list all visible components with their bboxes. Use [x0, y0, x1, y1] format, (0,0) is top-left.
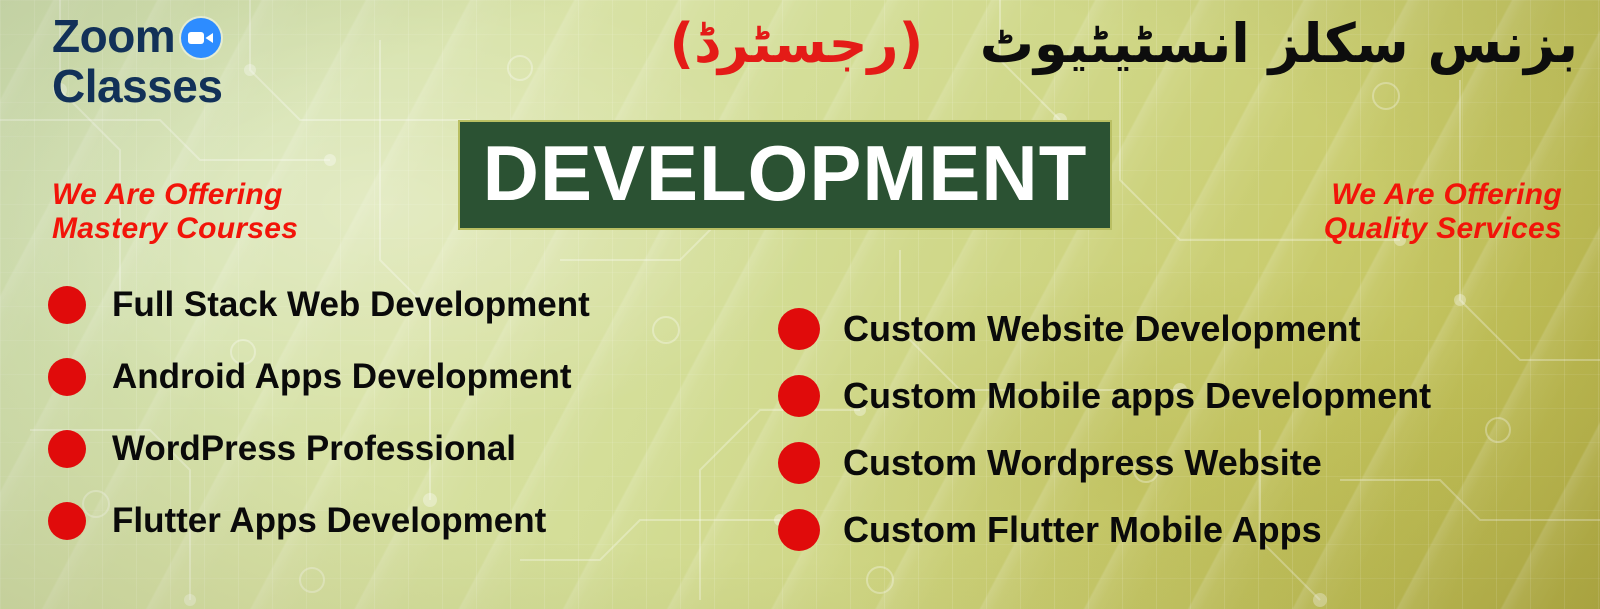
list-item: Android Apps Development [48, 358, 590, 396]
list-item: WordPress Professional [48, 430, 590, 468]
logo-text-classes: Classes [52, 63, 222, 109]
bullet-icon [778, 375, 820, 417]
left-heading-line-1: We Are Offering [52, 178, 298, 212]
logo: Zoom Classes [52, 12, 372, 110]
bullet-icon [778, 308, 820, 350]
bullet-icon [778, 509, 820, 551]
left-column-heading: We Are Offering Mastery Courses [52, 178, 298, 246]
list-item-label: Custom Mobile apps Development [843, 376, 1431, 416]
urdu-institute-heading: بزنس سکلز انسٹیٹیوٹ (رجسٹرڈ) [669, 8, 1578, 81]
logo-text-zoom: Zoom [52, 13, 175, 59]
bullet-icon [48, 430, 86, 468]
list-item: Custom Flutter Mobile Apps [778, 509, 1431, 551]
promo-banner: Zoom Classes بزنس سکلز انسٹیٹیوٹ (رجسٹرڈ… [0, 0, 1600, 609]
bullet-icon [48, 358, 86, 396]
right-heading-line-1: We Are Offering [1324, 178, 1562, 212]
list-item: Custom Website Development [778, 308, 1431, 350]
quality-services-list: Custom Website Development Custom Mobile… [778, 308, 1431, 551]
left-heading-line-2: Mastery Courses [52, 212, 298, 246]
title-box: DEVELOPMENT [458, 120, 1112, 230]
list-item: Full Stack Web Development [48, 286, 590, 324]
list-item-label: Custom Website Development [843, 309, 1360, 349]
urdu-institute-name: بزنس سکلز انسٹیٹیوٹ [980, 12, 1578, 75]
list-item-label: Android Apps Development [112, 358, 572, 396]
list-item: Flutter Apps Development [48, 502, 590, 540]
bullet-icon [778, 442, 820, 484]
list-item: Custom Wordpress Website [778, 442, 1431, 484]
list-item-label: Custom Wordpress Website [843, 443, 1322, 483]
right-heading-line-2: Quality Services [1324, 212, 1562, 246]
logo-row-classes: Classes [52, 62, 372, 110]
list-item-label: WordPress Professional [112, 430, 516, 468]
bullet-icon [48, 502, 86, 540]
list-item: Custom Mobile apps Development [778, 375, 1431, 417]
urdu-registered-label: (رجسٹرڈ) [669, 12, 923, 75]
right-column-heading: We Are Offering Quality Services [1324, 178, 1562, 246]
logo-row-zoom: Zoom [52, 12, 372, 60]
bullet-icon [48, 286, 86, 324]
video-camera-icon [181, 18, 221, 58]
list-item-label: Custom Flutter Mobile Apps [843, 510, 1322, 550]
list-item-label: Full Stack Web Development [112, 286, 590, 324]
page-title: DEVELOPMENT [483, 134, 1088, 212]
list-item-label: Flutter Apps Development [112, 502, 546, 540]
mastery-courses-list: Full Stack Web Development Android Apps … [48, 286, 590, 540]
